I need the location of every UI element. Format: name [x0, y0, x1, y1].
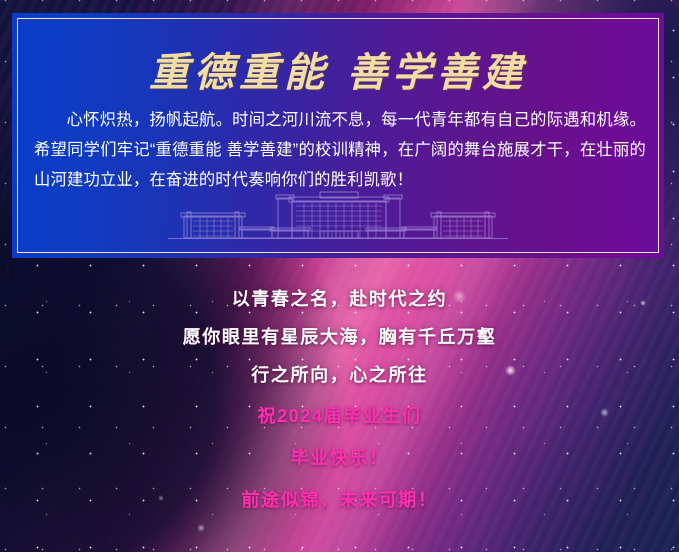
motto-part-2: 善学善建: [347, 50, 527, 95]
motto-part-1: 重德重能: [149, 50, 329, 95]
campus-building-silhouette: [168, 186, 508, 246]
poem-line: 愿你眼里有星辰大海，胸有千丘万壑: [0, 321, 679, 354]
poem-line: 以青春之名，赴时代之约: [0, 283, 679, 316]
graduation-poem: 以青春之名，赴时代之约 愿你眼里有星辰大海，胸有千丘万壑 行之所向，心之所往 祝…: [0, 283, 679, 517]
poem-line: 行之所向，心之所往: [0, 359, 679, 392]
poem-line: 前途似锦，未来可期！: [0, 484, 679, 517]
poem-line: 毕业快乐！: [0, 442, 679, 475]
page-number: 11: [0, 262, 16, 282]
school-motto-calligraphy: 重德重能善学善建: [12, 40, 664, 98]
panel-body-text: 心怀炽热，扬帆起航。时间之河川流不息，每一代青年都有自己的际遇和机缘。希望同学们…: [34, 105, 646, 195]
message-panel: 重德重能善学善建 心怀炽热，扬帆起航。时间之河川流不息，每一代青年都有自己的际遇…: [12, 13, 664, 258]
slide-canvas: 11 重德重能善学善建 心怀炽热，扬帆起航。时间之河川流不息，每一代青年都有自己…: [0, 0, 679, 552]
poem-line: 祝2024届毕业生们: [0, 400, 679, 433]
